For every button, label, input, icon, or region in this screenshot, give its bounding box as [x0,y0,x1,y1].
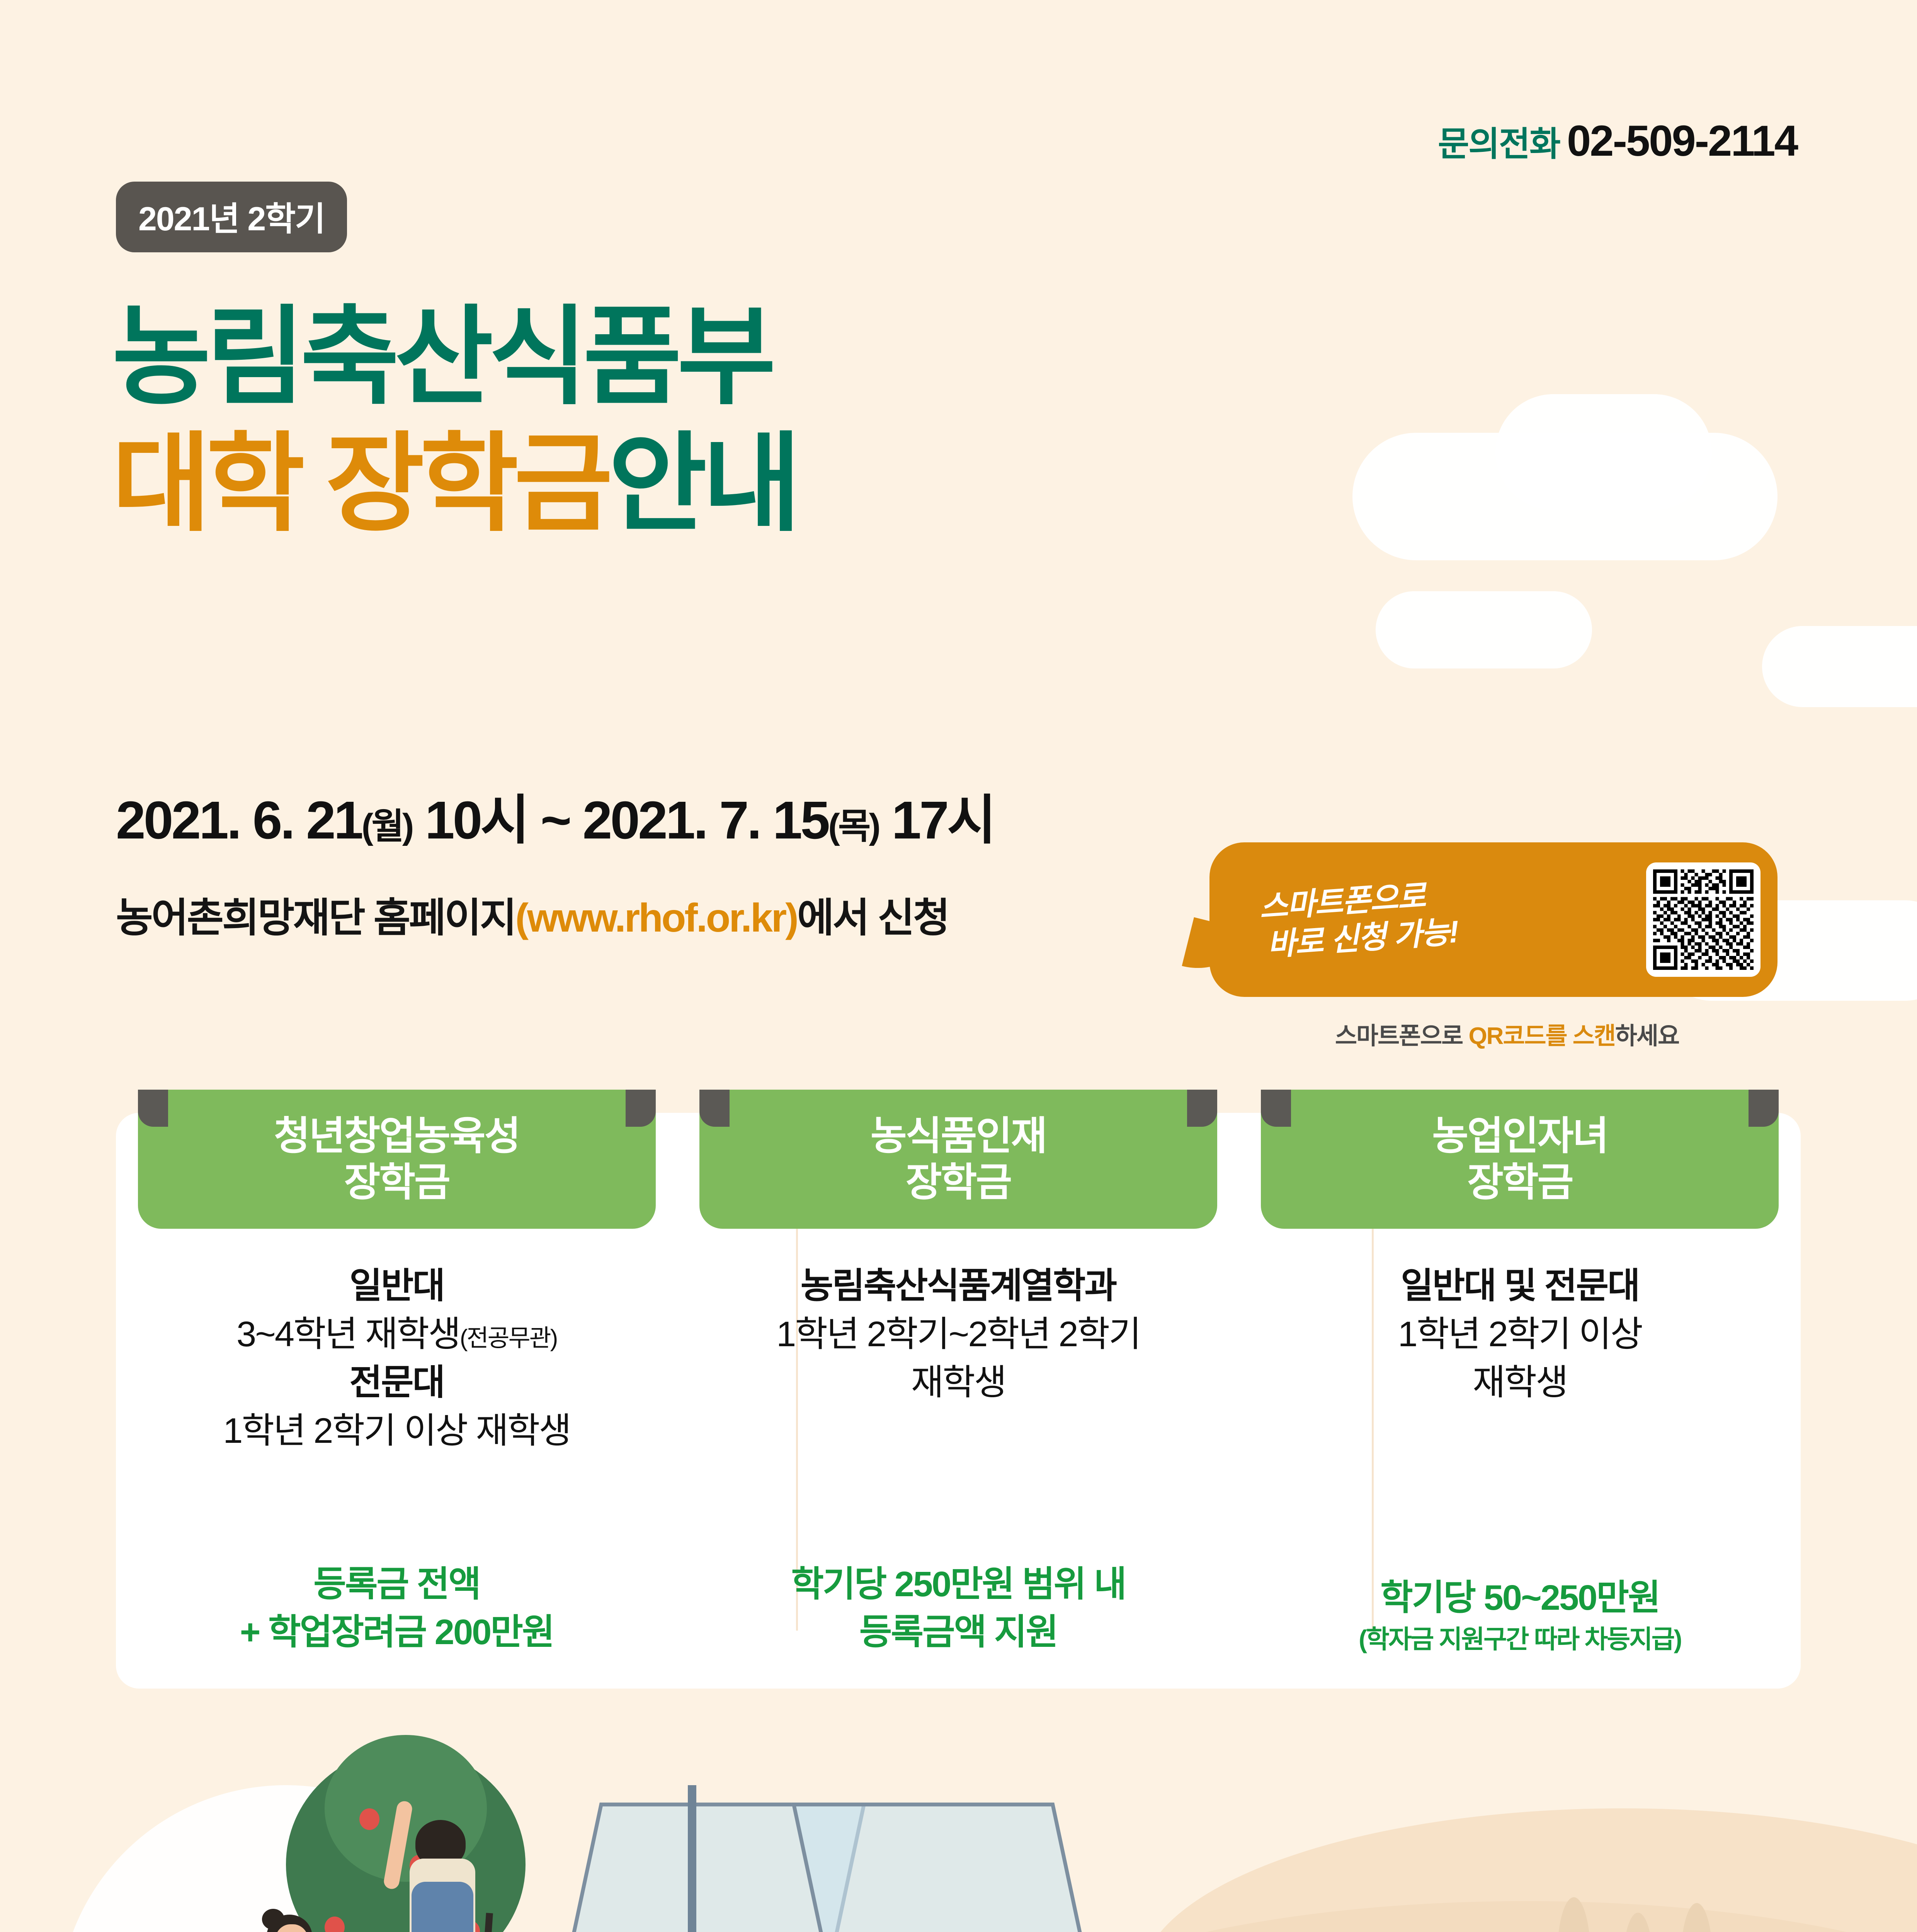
qr-section: 스마트폰으로 바로 신청 가능! [1209,842,1797,997]
cloud-decoration [1495,394,1712,510]
eligibility-line: 전문대 [223,1359,570,1407]
eligibility-note: (전공무관) [460,1325,557,1352]
eligibility-line: 재학생 [776,1359,1140,1407]
bubble-text: 스마트폰으로 바로 신청 가능! [1258,875,1459,964]
qr-caption: 스마트폰으로 QR코드를 스캔하세요 [1233,1016,1781,1051]
period-day-1: (월) [362,807,412,846]
eligibility-line: 재학생 [1398,1359,1642,1407]
pin-right-icon [626,1090,656,1127]
eligibility-line: 농림축산식품계열학과 [776,1262,1140,1310]
eligibility-line: 일반대 및 전문대 [1398,1262,1642,1310]
amount-line-2: 등록금액 지원 [677,1609,1239,1656]
card-header: 농식품인재 장학금 [699,1090,1217,1229]
application-period: 2021. 6. 21(월) 10시 ~ 2021. 7. 15(목) 17시 [116,777,994,854]
amount-line-1: 학기당 50~250만원 [1239,1574,1801,1622]
scholarship-panel: 청년창업농육성 장학금 일반대 3~4학년 재학생(전공무관) 전문대 1학년 … [116,1113,1801,1689]
cloud-decoration [1762,626,1917,707]
pin-right-icon [1187,1090,1217,1127]
card-title-line-1: 청년창업농육성 [274,1113,520,1159]
title-line-2: 대학 장학금안내 [112,420,797,547]
card-title-line-1: 농업인자녀 [1432,1113,1607,1159]
eligibility-line: 1학년 2학기 이상 [1398,1310,1642,1359]
pin-left-icon [699,1090,730,1127]
qr-caption-prefix: 스마트폰으로 [1335,1023,1468,1049]
cloud-decoration [1376,591,1592,668]
scholarship-poster: 문의전화 02-509-2114 2021년 2학기 농림축산식품부 대학 장학… [0,0,1917,1932]
card-title-line-2: 장학금 [344,1159,449,1206]
amount-line-2: + 학업장려금 200만원 [116,1609,677,1656]
period-middle: 10시 ~ 2021. 7. 15 [412,791,828,850]
title-orange-part: 대학 장학금 [112,423,608,544]
scholarship-card-agrifood-talent[interactable]: 농식품인재 장학금 농림축산식품계열학과 1학년 2학기~2학년 2학기 재학생… [677,1113,1239,1689]
eligibility-line: 1학년 2학기~2학년 2학기 [776,1310,1140,1359]
phone-number: 02-509-2114 [1567,116,1797,166]
qr-caption-suffix: 하세요 [1615,1023,1679,1049]
card-body: 농림축산식품계열학과 1학년 2학기~2학년 2학기 재학생 [776,1262,1140,1407]
pin-right-icon [1749,1090,1779,1127]
card-title-line-2: 장학금 [906,1159,1011,1206]
site-url[interactable]: (www.rhof.or.kr) [515,896,797,940]
card-header: 청년창업농육성 장학금 [138,1090,656,1229]
scholarship-card-youth-startup[interactable]: 청년창업농육성 장학금 일반대 3~4학년 재학생(전공무관) 전문대 1학년 … [116,1113,677,1689]
title-line-1: 농림축산식품부 [112,294,797,420]
card-header: 농업인자녀 장학금 [1261,1090,1779,1229]
eligibility-line: 1학년 2학기 이상 재학생 [223,1407,570,1455]
application-site: 농어촌희망재단 홈페이지(www.rhof.or.kr)에서 신청 [116,885,949,943]
farm-illustration [0,1692,1917,1932]
site-suffix: 에서 신청 [797,896,949,940]
period-start: 2021. 6. 21 [116,791,362,850]
site-prefix: 농어촌희망재단 홈페이지 [116,896,515,940]
title-green-part: 안내 [608,423,797,544]
speech-bubble: 스마트폰으로 바로 신청 가능! [1209,842,1778,997]
semester-badge: 2021년 2학기 [116,182,347,252]
qr-caption-highlight: QR코드를 스캔 [1468,1023,1615,1049]
card-body: 일반대 3~4학년 재학생(전공무관) 전문대 1학년 2학기 이상 재학생 [223,1262,570,1455]
amount-note: (학자금 지원구간 따라 차등지급) [1239,1622,1801,1656]
card-body: 일반대 및 전문대 1학년 2학기 이상 재학생 [1398,1262,1642,1407]
pin-left-icon [1261,1090,1291,1127]
eligibility-line: 3~4학년 재학생(전공무관) [223,1310,570,1359]
amount-line-1: 학기당 250만원 범위 내 [677,1561,1239,1608]
card-amount: 학기당 250만원 범위 내 등록금액 지원 [677,1561,1239,1656]
eligibility-text: 3~4학년 재학생 [236,1315,460,1354]
card-amount: 등록금 전액 + 학업장려금 200만원 [116,1561,677,1656]
apple-icon [359,1808,379,1830]
period-end: 17시 [879,791,994,850]
card-title-line-2: 장학금 [1467,1159,1573,1206]
card-amount: 학기당 50~250만원 (학자금 지원구간 따라 차등지급) [1239,1574,1801,1656]
card-title-line-1: 농식품인재 [871,1113,1046,1159]
eligibility-line: 일반대 [223,1262,570,1310]
page-title: 농림축산식품부 대학 장학금안내 [112,294,797,547]
phone-label: 문의전화 [1438,117,1560,166]
period-day-2: (목) [828,807,879,846]
scholarship-card-farmer-children[interactable]: 농업인자녀 장학금 일반대 및 전문대 1학년 2학기 이상 재학생 학기당 5… [1239,1113,1801,1689]
amount-line-1: 등록금 전액 [116,1561,677,1608]
qr-code-icon[interactable] [1646,862,1761,977]
pin-left-icon [138,1090,168,1127]
contact-phone: 문의전화 02-509-2114 [1438,116,1797,166]
